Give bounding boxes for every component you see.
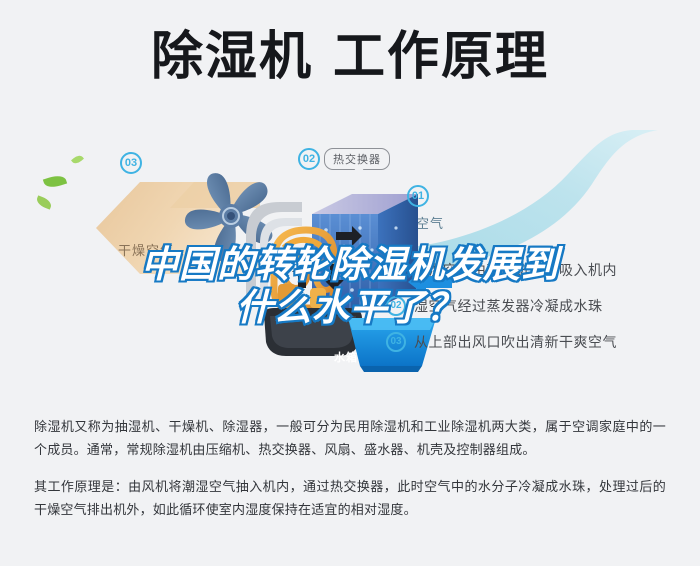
step-badge-02: 02 [298, 148, 320, 170]
step-badge-01: 01 [407, 185, 429, 207]
legend-text-02: 湿空气经过蒸发器冷凝成水珠 [414, 296, 603, 316]
step-badge-03: 03 [120, 152, 142, 174]
leaf-icon [71, 153, 84, 165]
legend-item: 01 潮湿空气由下部进风口吸入机内 [386, 252, 686, 288]
page-title: 除湿机 工作原理 [0, 26, 700, 88]
legend-badge-03: 03 [386, 332, 406, 352]
legend-text-01: 潮湿空气由下部进风口吸入机内 [414, 260, 617, 280]
dry-air-label: 干燥空气 [118, 240, 174, 259]
callout-pointer-icon [352, 165, 366, 176]
article-body: 除湿机又称为抽湿机、干燥机、除湿器，一般可分为民用除湿机和工业除湿机两大类，属于… [0, 400, 700, 566]
leaf-icon [43, 173, 67, 190]
article-paragraph-2: 其工作原理是：由风机将潮湿空气抽入机内，通过热交换器，此时空气中的水分子冷凝成水… [34, 476, 666, 522]
hero-infographic: 除湿机 工作原理 干燥空气 [0, 0, 700, 400]
infographic-page: 除湿机 工作原理 干燥空气 [0, 0, 700, 566]
legend-badge-02: 02 [386, 296, 406, 316]
article-paragraph-1: 除湿机又称为抽湿机、干燥机、除湿器，一般可分为民用除湿机和工业除湿机两大类，属于… [34, 416, 666, 462]
legend-item: 03 从上部出风口吹出清新干爽空气 [386, 324, 686, 360]
legend-list: 01 潮湿空气由下部进风口吸入机内 02 湿空气经过蒸发器冷凝成水珠 03 从上… [386, 252, 686, 360]
water-tank-label: 水箱 [334, 349, 358, 365]
leaf-icon [35, 195, 53, 209]
legend-item: 02 湿空气经过蒸发器冷凝成水珠 [386, 288, 686, 324]
legend-text-03: 从上部出风口吹出清新干爽空气 [414, 332, 617, 352]
legend-badge-01: 01 [386, 260, 406, 280]
